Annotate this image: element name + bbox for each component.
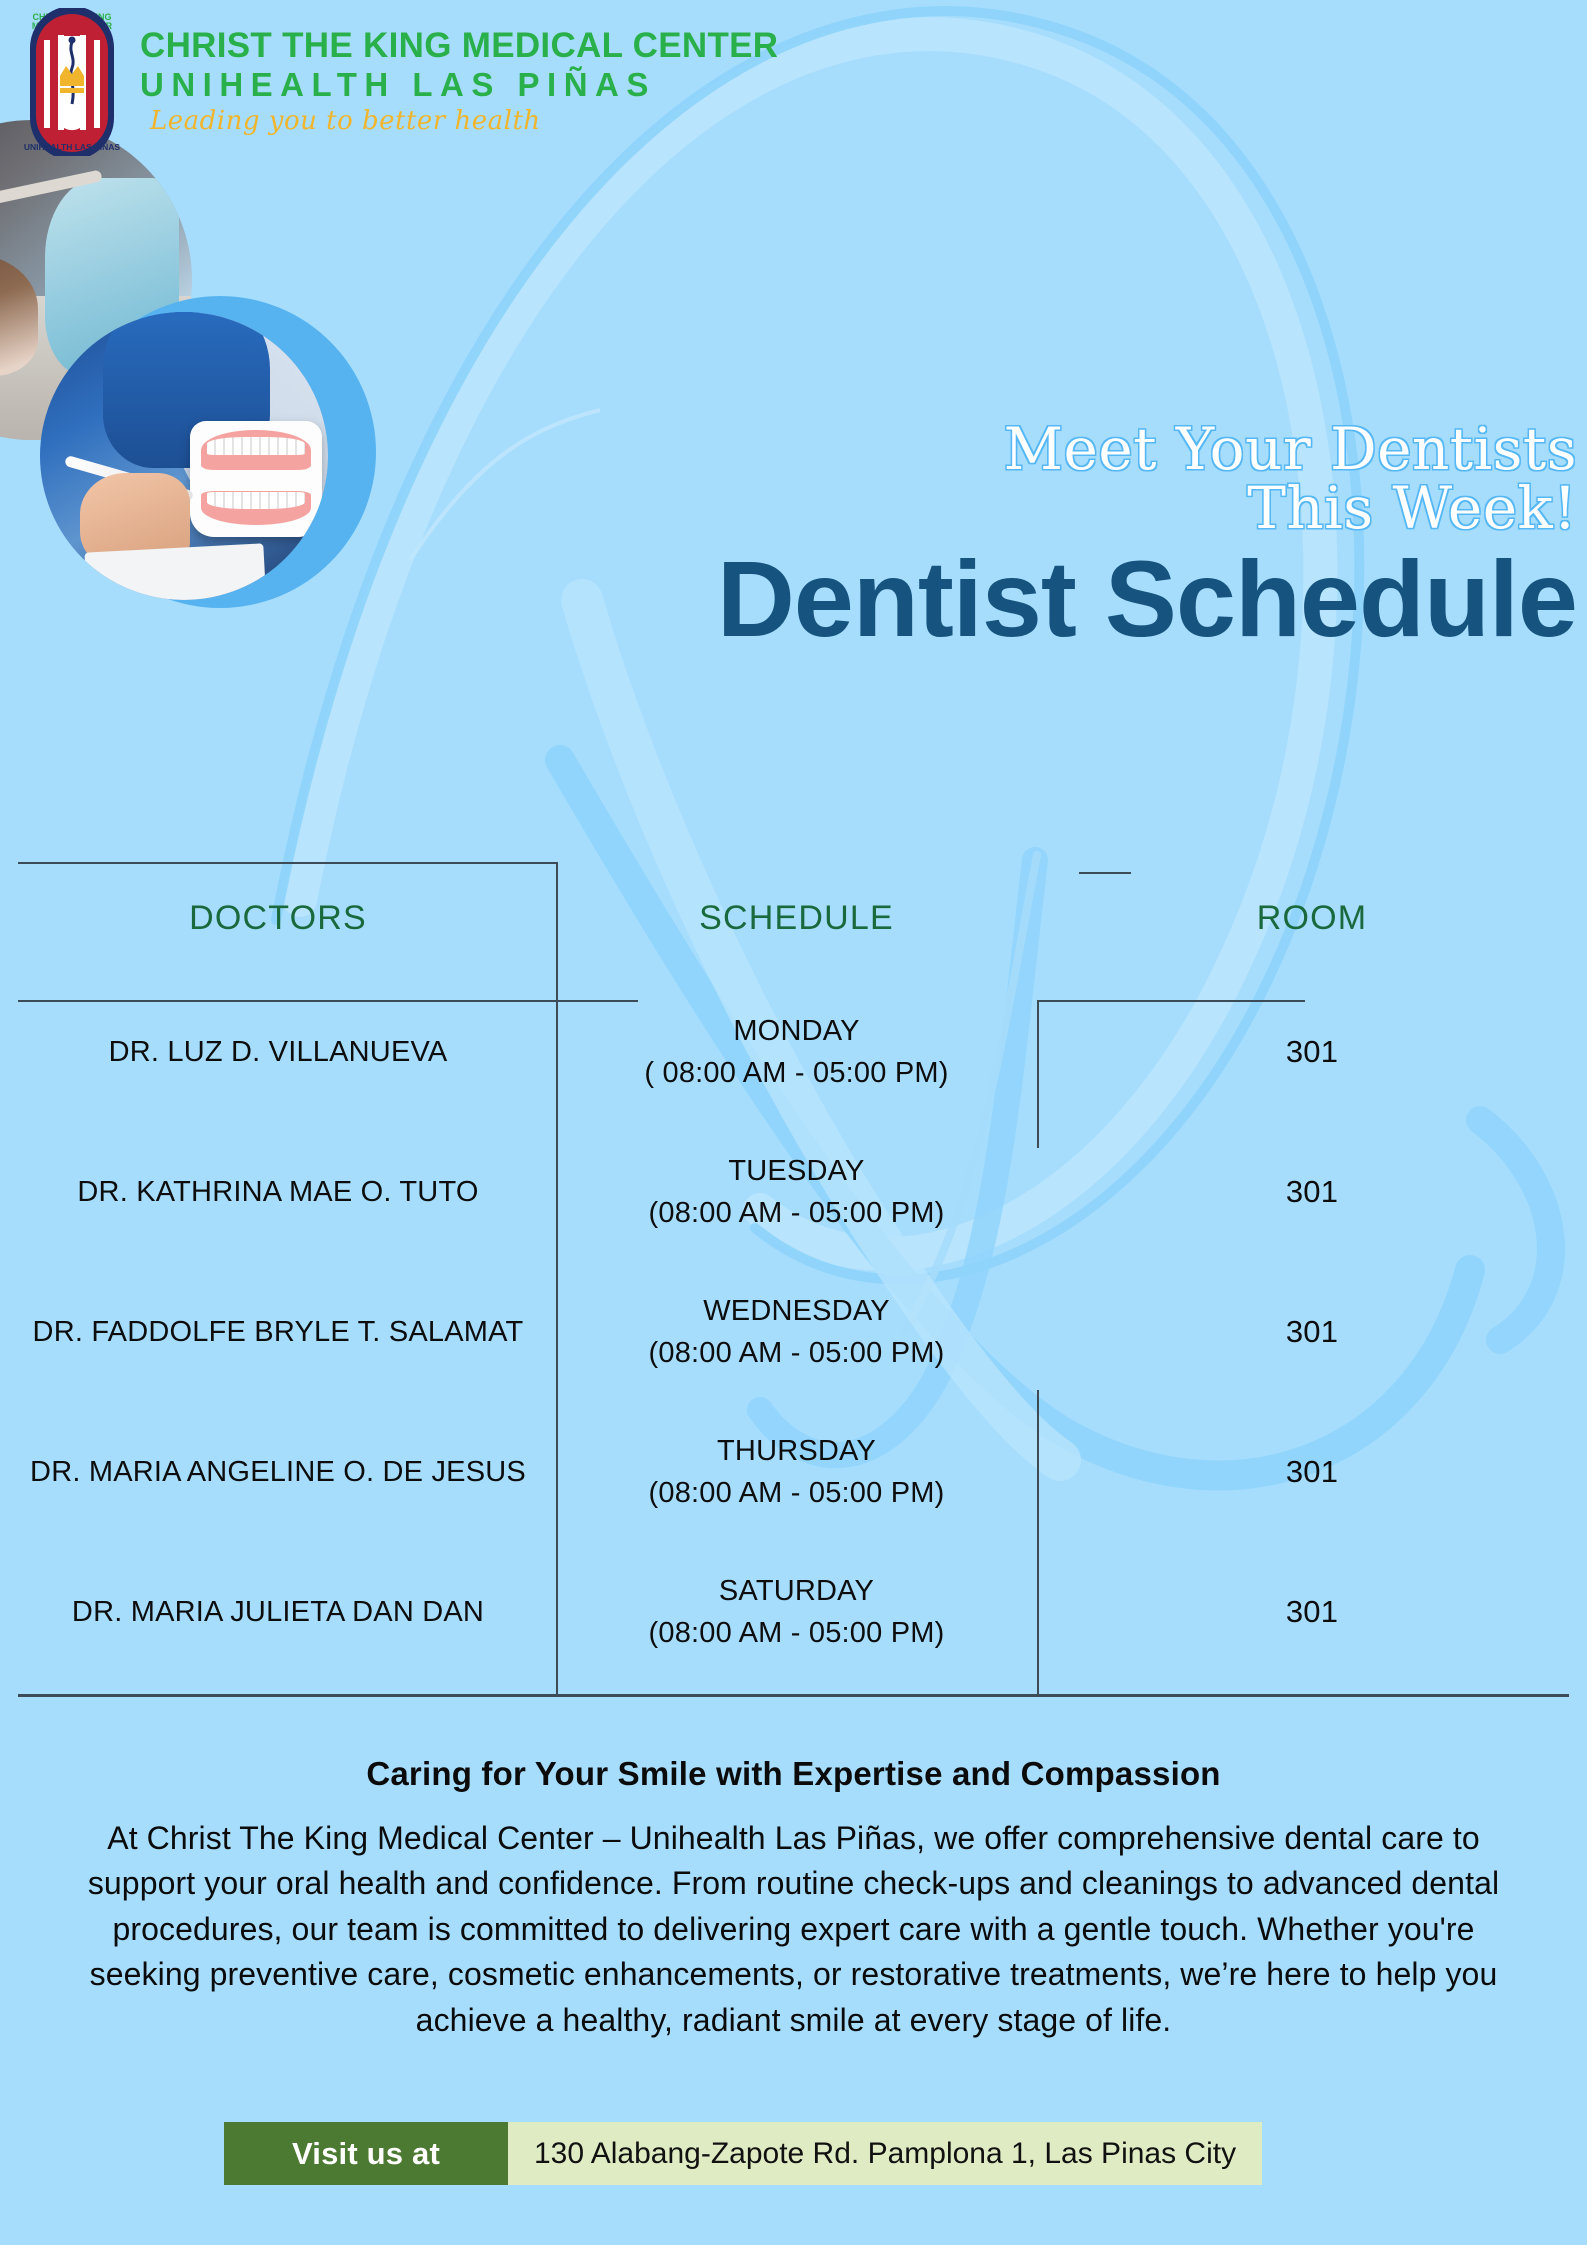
visit-us-label: Visit us at	[224, 2122, 508, 2185]
schedule-table-wrapper: DOCTORS SCHEDULE ROOM DR. LUZ D. VILLANU…	[0, 855, 1587, 1682]
hero-kicker-line2: This Week!	[477, 479, 1577, 538]
cell-schedule-hours: (08:00 AM - 05:00 PM)	[557, 1472, 1036, 1514]
table-header-row: DOCTORS SCHEDULE ROOM	[0, 855, 1587, 982]
svg-text:UNIHEALTH LAS PIÑAS: UNIHEALTH LAS PIÑAS	[24, 142, 121, 152]
cell-schedule-day: THURSDAY	[557, 1430, 1036, 1472]
cell-room: 301	[1037, 1542, 1587, 1682]
table-row: DR. MARIA ANGELINE O. DE JESUS THURSDAY …	[0, 1402, 1587, 1542]
cell-room: 301	[1037, 1262, 1587, 1402]
rule-col2-divider-bottom	[1037, 1390, 1039, 1694]
cell-room: 301	[1037, 1122, 1587, 1262]
page-title: Dentist Schedule	[477, 542, 1577, 655]
cell-schedule-hours: (08:00 AM - 05:00 PM)	[557, 1332, 1036, 1374]
cell-schedule-hours: (08:00 AM - 05:00 PM)	[557, 1612, 1036, 1654]
hero-block: Meet Your Dentists This Week! Dentist Sc…	[477, 420, 1577, 656]
cell-room: 301	[1037, 982, 1587, 1122]
table-row: DR. LUZ D. VILLANUEVA MONDAY ( 08:00 AM …	[0, 982, 1587, 1122]
hospital-crest-logo: CHRIST THE KING MEDICAL CENTER UNIHEALTH…	[16, 8, 128, 156]
table-row: DR. MARIA JULIETA DAN DAN SATURDAY (08:0…	[0, 1542, 1587, 1682]
rule-doctors-top	[18, 862, 556, 864]
cell-schedule-day: SATURDAY	[557, 1570, 1036, 1612]
cell-doctor: DR. MARIA ANGELINE O. DE JESUS	[0, 1402, 556, 1542]
cell-doctor: DR. MARIA JULIETA DAN DAN	[0, 1542, 556, 1682]
cell-schedule-day: MONDAY	[557, 1010, 1036, 1052]
cell-room: 301	[1037, 1402, 1587, 1542]
rule-col1-divider	[556, 862, 558, 1694]
brand-name-line2: UNIHEALTH LAS PIÑAS	[140, 66, 778, 104]
visit-us-bar: Visit us at 130 Alabang-Zapote Rd. Pampl…	[224, 2122, 1262, 2185]
cell-schedule: SATURDAY (08:00 AM - 05:00 PM)	[556, 1542, 1037, 1682]
brand-header: CHRIST THE KING MEDICAL CENTER UNIHEALTH…	[0, 0, 1587, 165]
table-row: DR. KATHRINA MAE O. TUTO TUESDAY (08:00 …	[0, 1122, 1587, 1262]
cell-doctor: DR. LUZ D. VILLANUEVA	[0, 982, 556, 1122]
table-row: DR. FADDOLFE BRYLE T. SALAMAT WEDNESDAY …	[0, 1262, 1587, 1402]
cell-schedule-hours: (08:00 AM - 05:00 PM)	[557, 1192, 1036, 1234]
photo-cluster	[0, 120, 442, 610]
hero-kicker-line1: Meet Your Dentists	[477, 420, 1577, 479]
section-tagline: Caring for Your Smile with Expertise and…	[0, 1755, 1587, 1793]
cell-schedule-hours: ( 08:00 AM - 05:00 PM)	[557, 1052, 1036, 1094]
rule-header-bottom-left	[18, 1000, 638, 1002]
cell-schedule: THURSDAY (08:00 AM - 05:00 PM)	[556, 1402, 1037, 1542]
cell-schedule: MONDAY ( 08:00 AM - 05:00 PM)	[556, 982, 1037, 1122]
cell-doctor: DR. KATHRINA MAE O. TUTO	[0, 1122, 556, 1262]
rule-header-bottom-right	[1037, 1000, 1305, 1002]
cell-doctor: DR. FADDOLFE BRYLE T. SALAMAT	[0, 1262, 556, 1402]
rule-table-bottom	[18, 1694, 1569, 1697]
cell-schedule: TUESDAY (08:00 AM - 05:00 PM)	[556, 1122, 1037, 1262]
rule-room-tick	[1079, 872, 1131, 874]
rule-col2-divider-top	[1037, 1000, 1039, 1148]
schedule-table: DOCTORS SCHEDULE ROOM DR. LUZ D. VILLANU…	[0, 855, 1587, 1682]
column-header-room: ROOM	[1037, 855, 1587, 982]
cell-schedule-day: TUESDAY	[557, 1150, 1036, 1192]
brand-name-line1: CHRIST THE KING MEDICAL CENTER	[140, 28, 778, 63]
cell-schedule-day: WEDNESDAY	[557, 1290, 1036, 1332]
column-header-doctors: DOCTORS	[0, 855, 556, 982]
poster-canvas: CHRIST THE KING MEDICAL CENTER UNIHEALTH…	[0, 0, 1587, 2245]
cell-schedule: WEDNESDAY (08:00 AM - 05:00 PM)	[556, 1262, 1037, 1402]
column-header-schedule: SCHEDULE	[556, 855, 1037, 982]
brand-tagline: Leading you to better health	[150, 106, 778, 136]
photo-dentist-model	[40, 312, 328, 600]
section-body-copy: At Christ The King Medical Center – Unih…	[60, 1816, 1527, 2043]
visit-us-address: 130 Alabang-Zapote Rd. Pamplona 1, Las P…	[508, 2122, 1262, 2185]
